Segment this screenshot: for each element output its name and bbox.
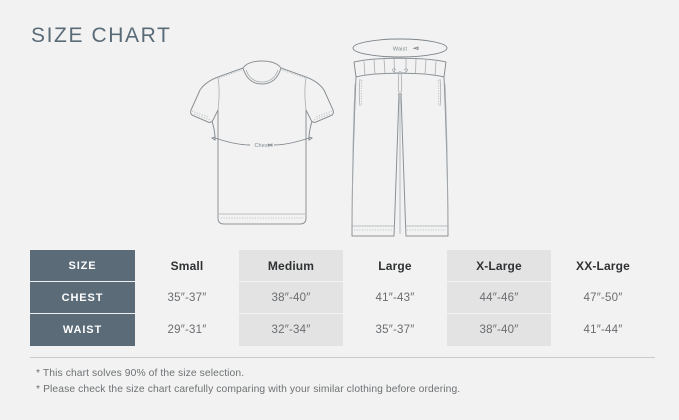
table-column-header-xx-large: XX-Large [551, 250, 655, 282]
table-column-header-small: Small [135, 250, 239, 282]
table-row-header-waist: WAIST [30, 314, 135, 346]
table-column-header-medium: Medium [239, 250, 343, 282]
table-cell-waist-medium: 32″-34″ [239, 314, 343, 346]
page-title: SIZE CHART [31, 24, 171, 48]
table-column-header-x-large: X-Large [447, 250, 551, 282]
table-row-header-chest: CHEST [30, 282, 135, 314]
size-chart-page: SIZE CHART [0, 0, 679, 420]
table-cell-chest-large: 41″-43″ [343, 282, 447, 314]
table-cell-waist-small: 29″-31″ [135, 314, 239, 346]
table-cell-chest-small: 35″-37″ [135, 282, 239, 314]
table-column-header-large: Large [343, 250, 447, 282]
footnote-2: * Please check the size chart carefully … [36, 382, 636, 398]
pants-measure-label: Waist [393, 47, 408, 53]
table-cell-chest-xx-large: 47″-50″ [551, 282, 655, 314]
footnotes: * This chart solves 90% of the size sele… [36, 366, 636, 398]
table-row-header-size: SIZE [30, 250, 135, 282]
tshirt-measure-label: Chest [254, 143, 269, 149]
table-cell-waist-x-large: 38″-40″ [447, 314, 551, 346]
table-cell-waist-xx-large: 41″-44″ [551, 314, 655, 346]
tshirt-illustration: Chest [188, 58, 336, 244]
pants-illustration: Waist [330, 34, 470, 256]
footnote-1: * This chart solves 90% of the size sele… [36, 366, 636, 382]
table-cell-chest-x-large: 44″-46″ [447, 282, 551, 314]
table-cell-chest-medium: 38″-40″ [239, 282, 343, 314]
section-divider [30, 357, 655, 358]
table-cell-waist-large: 35″-37″ [343, 314, 447, 346]
size-chart-table: SIZE Small Medium Large X-Large XX-Large… [30, 250, 655, 346]
